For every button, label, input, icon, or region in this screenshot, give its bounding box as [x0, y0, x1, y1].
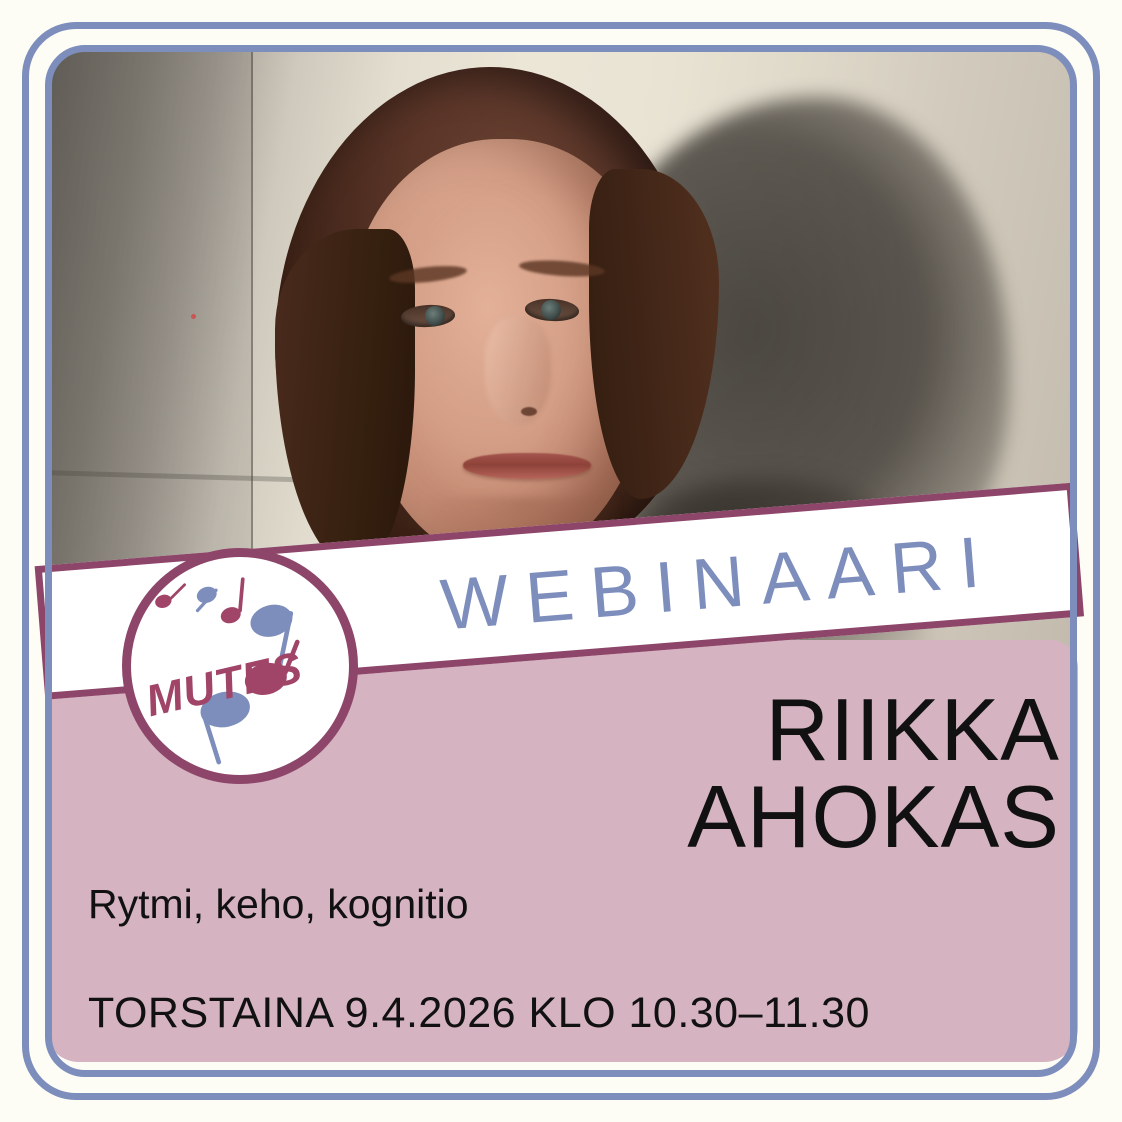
webinar-banner-label: WEBINAARI [438, 520, 1000, 646]
poster-card: WEBINAARI MUTES RIIKKA AHOKAS [0, 0, 1122, 1122]
talk-subtitle: Rytmi, keho, kognitio [88, 881, 469, 928]
speaker-name: RIIKKA AHOKAS [687, 686, 1060, 860]
speaker-last-name: AHOKAS [687, 773, 1060, 860]
photo-red-speck [191, 314, 196, 319]
photo-nostril [521, 407, 537, 416]
photo-nose [485, 317, 551, 425]
speaker-first-name: RIIKKA [687, 686, 1060, 773]
photo-iris-left [425, 306, 445, 326]
photo-iris-right [541, 300, 561, 320]
photo-mouth [463, 453, 591, 479]
mutes-logo: MUTES [122, 548, 358, 784]
event-datetime: TORSTAINA 9.4.2026 KLO 10.30–11.30 [88, 989, 870, 1038]
